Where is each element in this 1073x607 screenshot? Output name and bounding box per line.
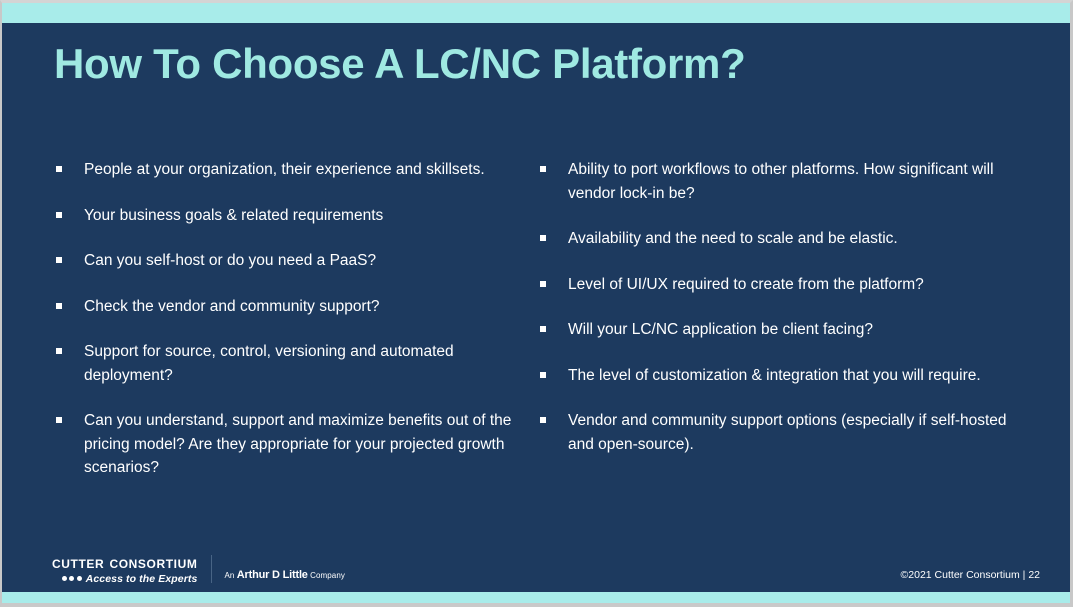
list-item: Support for source, control, versioning … [54,340,524,387]
partner-suffix: Company [310,571,345,580]
bullet-text: Your business goals & related requiremen… [84,207,383,224]
bullet-text: Can you understand, support and maximize… [84,412,511,476]
square-bullet-icon [540,326,546,332]
square-bullet-icon [540,281,546,287]
bullet-text: Will your LC/NC application be client fa… [568,321,873,338]
bullet-text: Support for source, control, versioning … [84,343,454,384]
cutter-brand-name: Cutter Consortium [52,555,197,572]
square-bullet-icon [56,348,62,354]
slide-body: People at your organization, their exper… [2,158,1070,458]
bullet-text: People at your organization, their exper… [84,161,485,178]
bullet-text: Ability to port workflows to other platf… [568,161,994,202]
square-bullet-icon [540,417,546,423]
list-item: Check the vendor and community support? [54,295,524,319]
cutter-tagline-row: Access to the Experts [62,574,198,585]
square-bullet-icon [56,166,62,172]
bullet-text: The level of customization & integration… [568,367,981,384]
list-item: The level of customization & integration… [538,364,1013,388]
square-bullet-icon [540,235,546,241]
list-item: Can you self-host or do you need a PaaS? [54,249,524,273]
right-bullet-list: Ability to port workflows to other platf… [538,158,1013,456]
cutter-tagline: Access to the Experts [86,574,198,585]
slide-footer: Cutter Consortium Access to the Experts … [2,546,1070,592]
bullet-text: Can you self-host or do you need a PaaS? [84,252,376,269]
square-bullet-icon [56,417,62,423]
list-item: People at your organization, their exper… [54,158,524,182]
bullet-text: Availability and the need to scale and b… [568,230,898,247]
partner-prefix: An [224,571,234,580]
square-bullet-icon [540,166,546,172]
top-accent-band [2,3,1070,23]
list-item: Availability and the need to scale and b… [538,227,1013,251]
bottom-accent-band [2,592,1070,603]
list-item: Will your LC/NC application be client fa… [538,318,1013,342]
three-dots-icon [62,576,82,581]
bullet-text: Check the vendor and community support? [84,298,380,315]
bullet-text: Level of UI/UX required to create from t… [568,276,924,293]
partner-name: Arthur D Little [237,569,308,581]
logo-divider [211,555,212,583]
left-bullet-list: People at your organization, their exper… [54,158,524,480]
square-bullet-icon [56,257,62,263]
list-item: Ability to port workflows to other platf… [538,158,1013,205]
right-bullet-column: Ability to port workflows to other platf… [538,158,1013,456]
square-bullet-icon [540,372,546,378]
bullet-text: Vendor and community support options (es… [568,412,1007,453]
list-item: Vendor and community support options (es… [538,409,1013,456]
list-item: Level of UI/UX required to create from t… [538,273,1013,297]
slide-title: How To Choose A LC/NC Platform? [54,41,745,87]
list-item: Can you understand, support and maximize… [54,409,524,480]
left-bullet-column: People at your organization, their exper… [54,158,524,480]
footer-logo-group: Cutter Consortium Access to the Experts … [52,555,345,584]
copyright-and-slide-number: ©2021 Cutter Consortium | 22 [901,569,1040,581]
cutter-consortium-logo: Cutter Consortium Access to the Experts [52,555,197,584]
arthur-d-little-logo: An Arthur D Little Company [224,569,345,584]
presentation-slide: How To Choose A LC/NC Platform? People a… [0,0,1073,607]
square-bullet-icon [56,303,62,309]
square-bullet-icon [56,212,62,218]
list-item: Your business goals & related requiremen… [54,204,524,228]
